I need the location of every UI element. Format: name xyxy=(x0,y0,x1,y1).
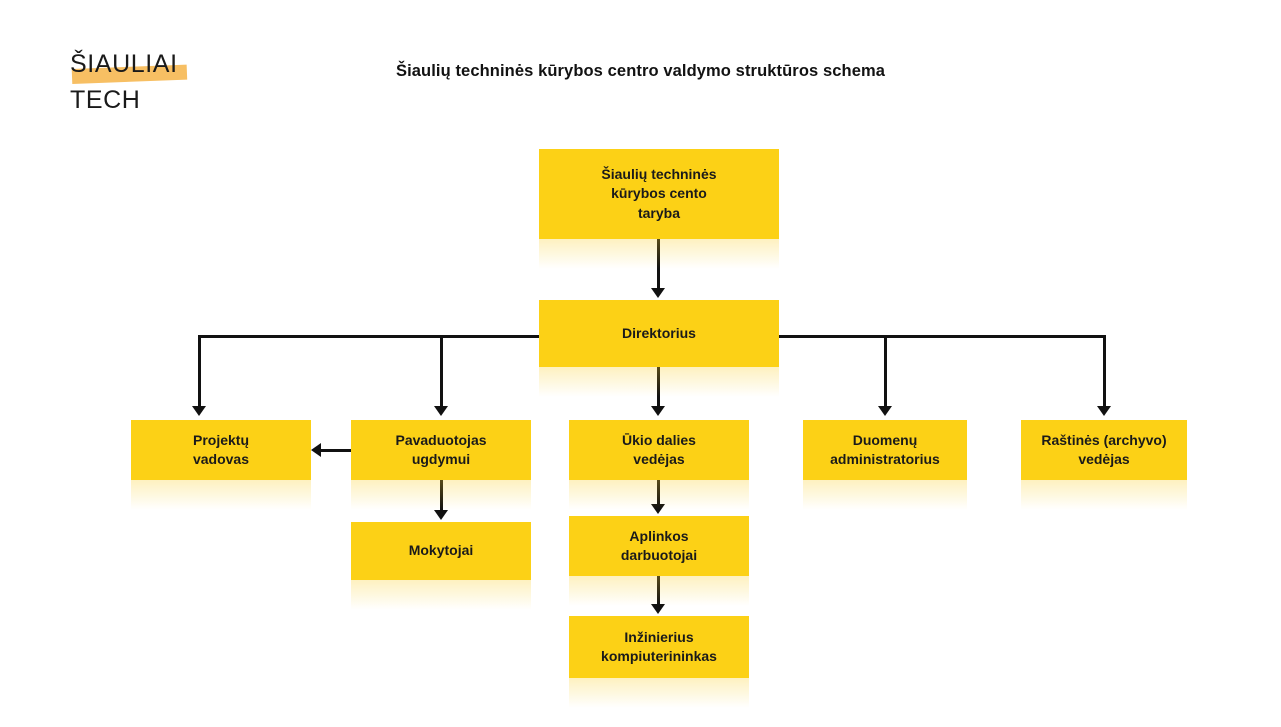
node-council[interactable]: Šiaulių techninės kūrybos cento taryba xyxy=(539,149,779,239)
node-project-manager[interactable]: Projektų vadovas xyxy=(131,420,311,480)
logo-text-tech: TECH xyxy=(70,88,140,113)
arrow-director-facilities-head xyxy=(651,406,665,416)
connector-facilities-maintenance xyxy=(657,480,660,506)
org-chart-canvas: ŠIAULIAI TECH Šiaulių techninės kūrybos … xyxy=(0,0,1281,727)
node-facilities-head-label: Ūkio dalies vedėjas xyxy=(622,431,696,470)
node-facilities-head[interactable]: Ūkio dalies vedėjas xyxy=(569,420,749,480)
arrow-facilities-maintenance xyxy=(651,504,665,514)
connector-director-facilities-head xyxy=(657,367,660,408)
arrow-bus-deputy-education xyxy=(434,406,448,416)
siauliai-tech-logo: ŠIAULIAI TECH xyxy=(70,48,260,118)
connector-bus-archive-head xyxy=(1103,335,1106,408)
connector-bus-project-manager xyxy=(198,335,201,408)
arrow-bus-archive-head xyxy=(1097,406,1111,416)
node-director[interactable]: Direktorius xyxy=(539,300,779,367)
page-title: Šiaulių techninės kūrybos centro valdymo… xyxy=(0,62,1281,81)
connector-bus-deputy-education xyxy=(440,335,443,408)
arrow-maintenance-engineer xyxy=(651,604,665,614)
node-data-admin-label: Duomenų administratorius xyxy=(830,431,940,470)
node-archive-head[interactable]: Raštinės (archyvo) vedėjas xyxy=(1021,420,1187,480)
node-project-manager-label: Projektų vadovas xyxy=(193,431,249,470)
connector-bus-data-admin xyxy=(884,335,887,408)
connector-deputy-to-project-manager xyxy=(320,449,352,452)
arrow-council-director xyxy=(651,288,665,298)
arrow-bus-project-manager xyxy=(192,406,206,416)
connector-council-director xyxy=(657,239,660,289)
node-archive-head-label: Raštinės (archyvo) vedėjas xyxy=(1041,431,1166,470)
node-deputy-education-label: Pavaduotojas ugdymui xyxy=(395,431,486,470)
node-computer-engineer-label: Inžinierius kompiuterininkas xyxy=(601,628,717,667)
node-teachers-label: Mokytojai xyxy=(409,541,474,560)
node-council-label: Šiaulių techninės kūrybos cento taryba xyxy=(601,165,716,223)
node-deputy-education[interactable]: Pavaduotojas ugdymui xyxy=(351,420,531,480)
node-data-admin[interactable]: Duomenų administratorius xyxy=(803,420,967,480)
arrow-bus-data-admin xyxy=(878,406,892,416)
arrow-deputy-to-project-manager xyxy=(311,443,321,457)
node-maintenance-staff[interactable]: Aplinkos darbuotojai xyxy=(569,516,749,576)
connector-deputy-teachers xyxy=(440,480,443,512)
connector-maintenance-engineer xyxy=(657,576,660,606)
node-teachers[interactable]: Mokytojai xyxy=(351,522,531,580)
arrow-deputy-teachers xyxy=(434,510,448,520)
node-director-label: Direktorius xyxy=(622,324,696,343)
node-computer-engineer[interactable]: Inžinierius kompiuterininkas xyxy=(569,616,749,678)
node-maintenance-staff-label: Aplinkos darbuotojai xyxy=(621,527,697,566)
